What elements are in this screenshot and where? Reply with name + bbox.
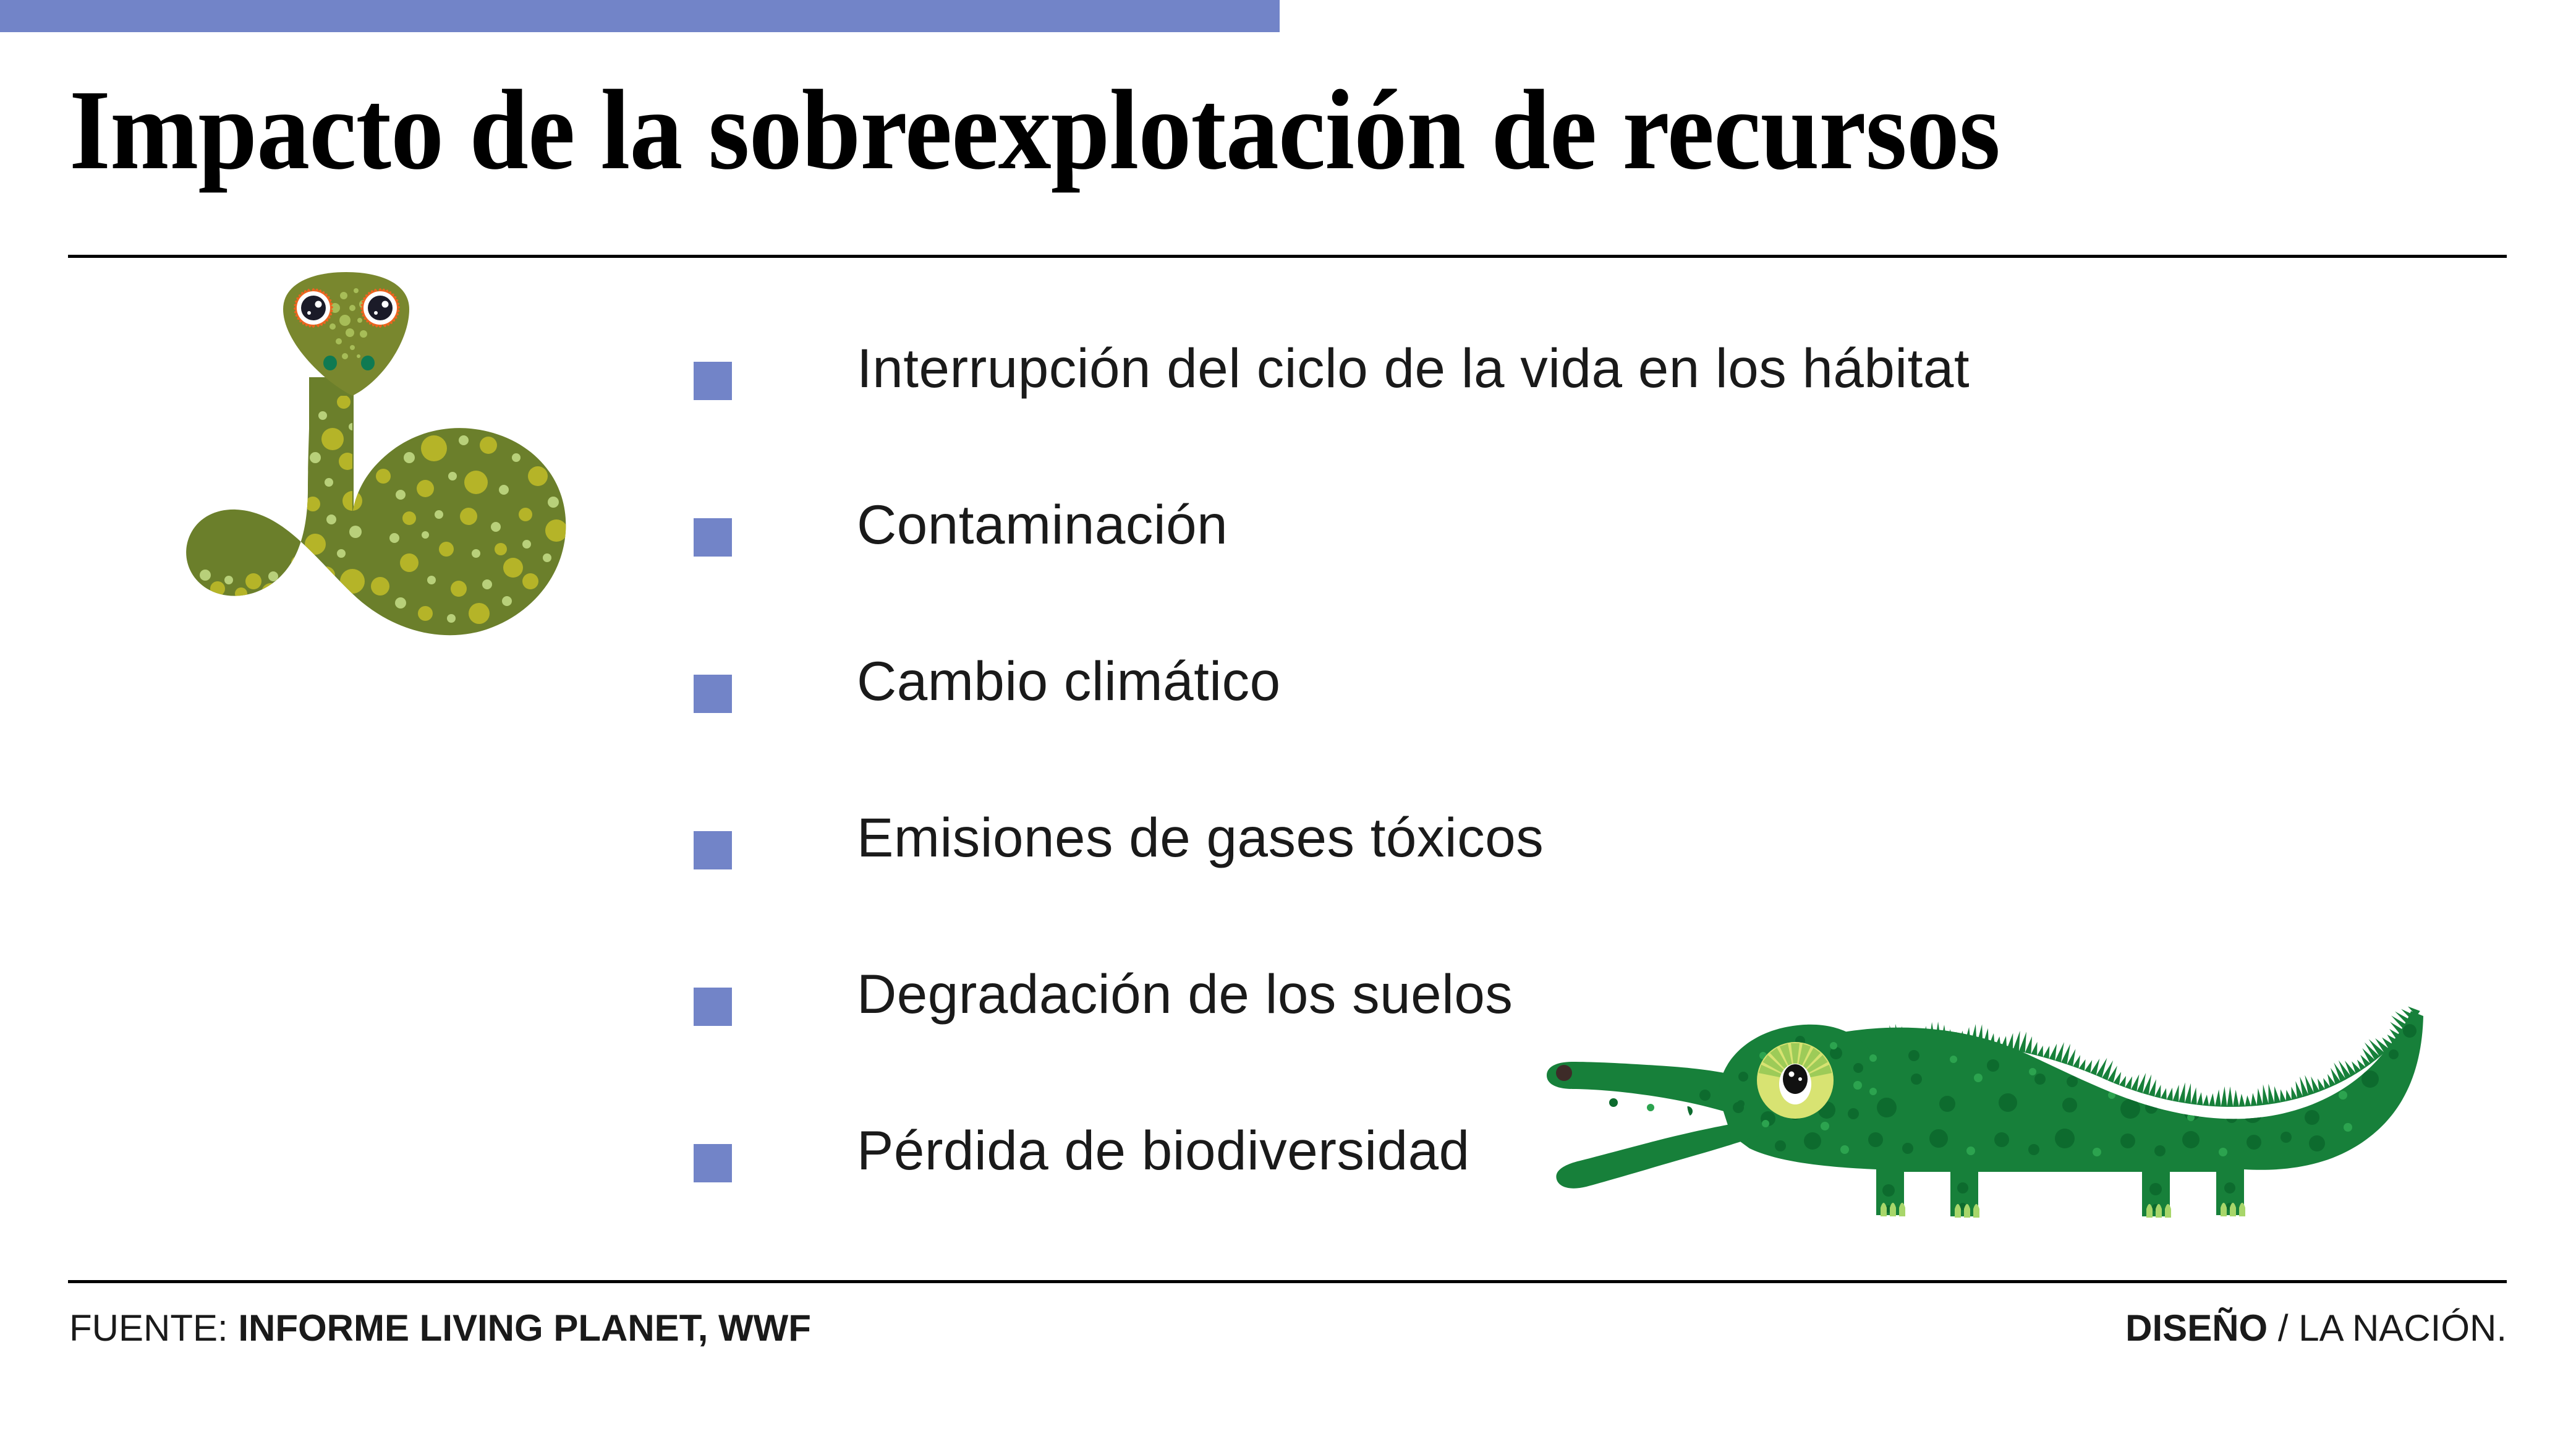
snake-head [283,272,409,396]
list-item-label: Pérdida de biodiversidad [857,1123,1470,1178]
list-item-label: Degradación de los suelos [857,967,1513,1022]
design-brand: DISEÑO [2125,1307,2268,1349]
bullet-square-icon [694,675,732,713]
crocodile-nostril [1556,1065,1572,1081]
bullet-square-icon [694,988,732,1026]
bullet-square-icon [694,362,732,400]
crocodile-claws [1881,1203,2245,1218]
bullet-square-icon [694,1144,732,1182]
list-item-label: Emisiones de gases tóxicos [857,810,1544,865]
design-outlet: / LA NACIÓN. [2268,1307,2507,1349]
list-item-label: Contaminación [857,497,1228,552]
header-divider [68,255,2507,258]
design-credit: DISEÑO / LA NACIÓN. [2125,1310,2507,1347]
infographic-slide: Impacto de la sobreexplotación de recurs… [0,0,2576,1439]
page-title: Impacto de la sobreexplotación de recurs… [69,73,2311,187]
list-item-label: Cambio climático [857,654,1281,709]
bullet-square-icon [694,518,732,557]
bullet-square-icon [694,831,732,869]
snake-nostril-left [323,356,337,370]
top-accent-bar [0,0,1280,32]
snake-illustration [167,272,600,742]
source-credit: FUENTE: INFORME LIVING PLANET, WWF [69,1310,811,1347]
source-value: INFORME LIVING PLANET, WWF [238,1307,811,1349]
footer-divider [68,1280,2507,1283]
source-label: FUENTE: [69,1307,228,1349]
crocodile-illustration [1545,986,2547,1265]
snake-body [186,377,567,635]
list-item-label: Interrupción del ciclo de la vida en los… [857,341,1970,396]
crocodile-eye-icon [1757,1042,1834,1119]
snake-nostril-right [361,356,375,370]
